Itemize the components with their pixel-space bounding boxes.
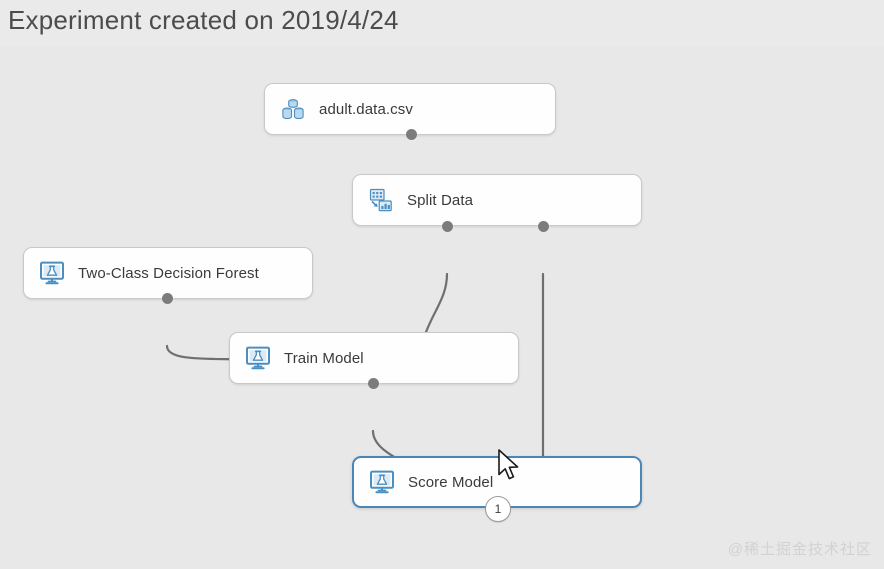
node-label: Two-Class Decision Forest <box>78 265 259 282</box>
node-label: Split Data <box>407 192 473 209</box>
module-monitor-flask-icon <box>244 344 272 372</box>
split-data-output-right-port[interactable] <box>538 221 549 232</box>
split-data-output-left-port[interactable] <box>442 221 453 232</box>
node-split-data[interactable]: Split Data <box>352 174 642 226</box>
split-data-icon <box>367 186 395 214</box>
page-header: Experiment created on 2019/4/24 <box>0 0 884 46</box>
decision-forest-output-port[interactable] <box>162 293 173 304</box>
node-dataset[interactable]: adult.data.csv <box>264 83 556 135</box>
dataset-output-port[interactable] <box>406 129 417 140</box>
node-label: adult.data.csv <box>319 101 413 118</box>
train-model-output-port[interactable] <box>368 378 379 389</box>
database-stack-icon <box>279 95 307 123</box>
module-monitor-flask-icon <box>368 468 396 496</box>
node-two-class-decision-forest[interactable]: Two-Class Decision Forest <box>23 247 313 299</box>
module-monitor-flask-icon <box>38 259 66 287</box>
graph-canvas[interactable]: adult.data.csvSplit DataTwo-Class Decisi… <box>0 46 884 569</box>
page-title: Experiment created on 2019/4/24 <box>8 5 399 36</box>
node-label: Train Model <box>284 350 364 367</box>
experiment-canvas-page: Experiment created on 2019/4/24 adult.da… <box>0 0 884 569</box>
comment-count-badge[interactable]: 1 <box>485 496 511 522</box>
watermark: @稀土掘金技术社区 <box>728 538 872 559</box>
node-train-model[interactable]: Train Model <box>229 332 519 384</box>
node-label: Score Model <box>408 474 493 491</box>
comment-count-label: 1 <box>495 502 502 516</box>
